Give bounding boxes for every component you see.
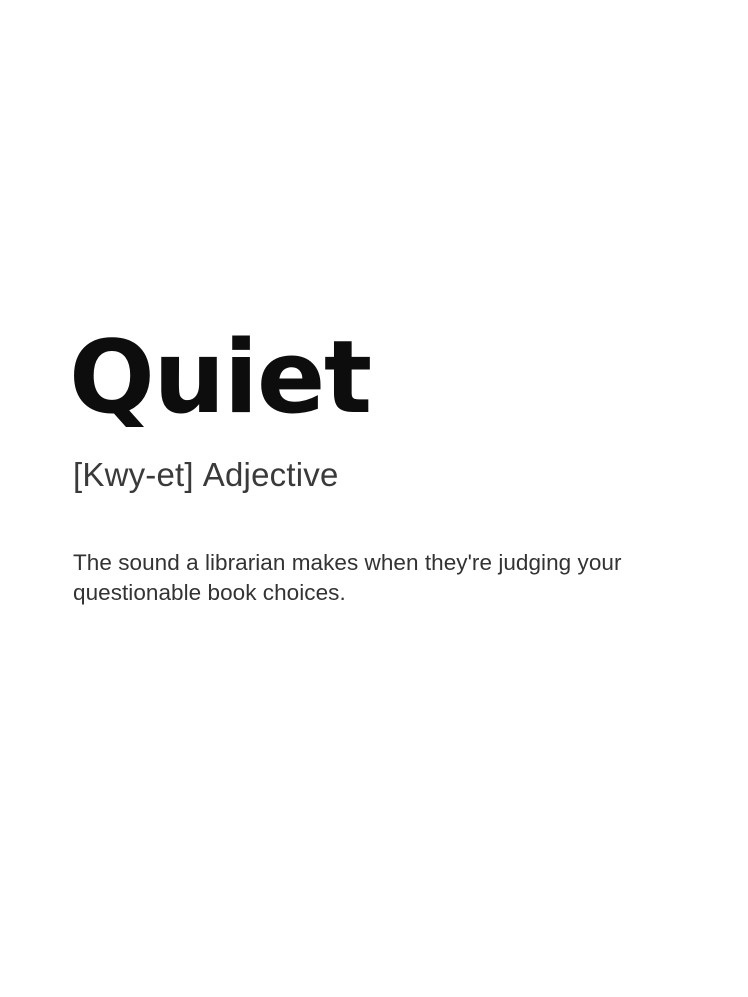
definition-block: Quiet [Kwy-et]Adjective The sound a libr… [73,330,673,608]
definition-body-text: The sound a librarian makes when they're… [73,548,629,608]
part-of-speech-label: Adjective [203,456,339,493]
headword-title: Quiet [69,330,669,426]
definition-poster: Quiet [Kwy-et]Adjective The sound a libr… [0,0,748,997]
pronunciation-line: [Kwy-et]Adjective [73,456,673,494]
pronunciation-text: [Kwy-et] [73,456,194,493]
